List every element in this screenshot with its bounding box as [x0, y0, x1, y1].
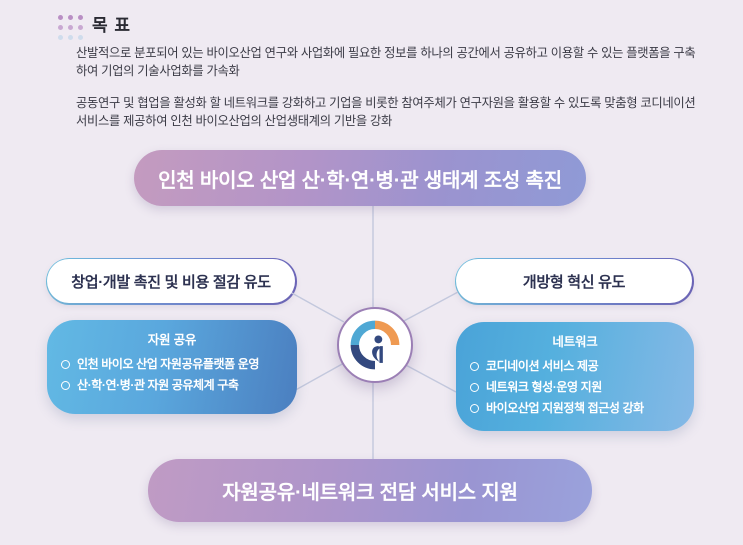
right-outcome-pill[interactable]: 개방형 혁신 유도 [456, 259, 692, 303]
bottom-banner-label: 자원공유·네트워크 전담 서비스 지원 [222, 476, 518, 505]
left-outcome-pill-label: 창업·개발 촉진 및 비용 절감 유도 [71, 271, 271, 292]
resource-sharing-card[interactable]: 자원 공유 인천 바이오 산업 자원공유플랫폼 운영 산·학·연·병·관 자원 … [47, 320, 297, 414]
list-item: 바이오산업 지원정책 접근성 강화 [470, 398, 694, 419]
network-card-list: 코디네이션 서비스 제공 네트워크 형성·운영 지원 바이오산업 지원정책 접근… [456, 356, 694, 419]
list-item-label: 코디네이션 서비스 제공 [486, 356, 598, 377]
page-title: 목 표 [92, 11, 131, 36]
network-card[interactable]: 네트워크 코디네이션 서비스 제공 네트워크 형성·운영 지원 바이오산업 지원… [456, 322, 694, 431]
list-item: 코디네이션 서비스 제공 [470, 356, 694, 377]
bullet-circle-icon [61, 360, 70, 369]
bullet-circle-icon [61, 381, 70, 390]
objective-paragraph-1: 산발적으로 분포되어 있는 바이오산업 연구와 사업화에 필요한 정보를 하나의… [76, 44, 696, 80]
list-item: 산·학·연·병·관 자원 공유체계 구축 [61, 375, 297, 396]
list-item-label: 네트워크 형성·운영 지원 [486, 377, 602, 398]
bottom-banner: 자원공유·네트워크 전담 서비스 지원 [148, 459, 592, 522]
list-item: 인천 바이오 산업 자원공유플랫폼 운영 [61, 354, 297, 375]
network-card-title: 네트워크 [456, 331, 694, 350]
bullet-circle-icon [470, 362, 479, 371]
top-banner-label: 인천 바이오 산업 산·학·연·병·관 생태계 조성 촉진 [158, 164, 562, 193]
dot-grid-icon [58, 15, 84, 41]
list-item-label: 바이오산업 지원정책 접근성 강화 [486, 398, 644, 419]
resource-sharing-card-list: 인천 바이오 산업 자원공유플랫폼 운영 산·학·연·병·관 자원 공유체계 구… [47, 354, 297, 396]
list-item: 네트워크 형성·운영 지원 [470, 377, 694, 398]
bio-hub-logo-icon [337, 307, 413, 383]
bullet-circle-icon [470, 383, 479, 392]
right-outcome-pill-label: 개방형 혁신 유도 [523, 271, 625, 292]
bullet-circle-icon [470, 404, 479, 413]
objective-paragraph-2: 공동연구 및 협업을 활성화 할 네트워크를 강화하고 기업을 비롯한 참여주체… [76, 94, 696, 130]
resource-sharing-card-title: 자원 공유 [47, 329, 297, 348]
top-banner: 인천 바이오 산업 산·학·연·병·관 생태계 조성 촉진 [134, 150, 586, 206]
list-item-label: 산·학·연·병·관 자원 공유체계 구축 [77, 375, 239, 396]
left-outcome-pill[interactable]: 창업·개발 촉진 및 비용 절감 유도 [47, 259, 295, 303]
list-item-label: 인천 바이오 산업 자원공유플랫폼 운영 [77, 354, 259, 375]
infographic-canvas: 목 표 산발적으로 분포되어 있는 바이오산업 연구와 사업화에 필요한 정보를… [0, 0, 743, 545]
